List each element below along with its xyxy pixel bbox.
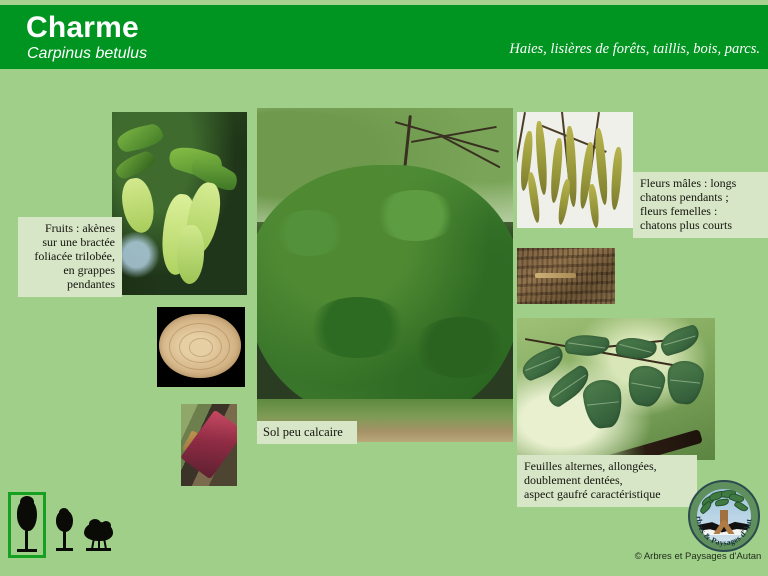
- photo-whole-tree: [257, 108, 513, 442]
- leaf-vein: [620, 344, 653, 353]
- foliage-tuft: [308, 297, 408, 358]
- tree-base: [17, 549, 37, 552]
- caption-line: Fleurs mâles : longs: [640, 177, 761, 191]
- shrub-crown-top: [89, 519, 101, 529]
- photo-wood-cross-section: [157, 307, 245, 387]
- shrub-base: [86, 548, 111, 551]
- habitat-text: Haies, lisières de forêts, taillis, bois…: [509, 42, 760, 57]
- form-icon-small-tree[interactable]: [51, 510, 79, 558]
- tree-form-icons: [8, 492, 113, 564]
- tree-trunk: [63, 529, 66, 549]
- caption-line: chatons pendants ;: [640, 191, 761, 205]
- photo-male-catkins: [517, 112, 633, 228]
- caption-flowers: Fleurs mâles : longs chatons pendants ; …: [633, 172, 768, 238]
- photo-bark-detail-knife: [181, 404, 237, 486]
- caption-soil: Sol peu calcaire: [257, 421, 357, 444]
- caption-line: chatons plus courts: [640, 219, 761, 233]
- caption-line: Feuilles alternes, allongées,: [524, 460, 690, 474]
- tree-base: [56, 548, 73, 551]
- foliage-tuft: [413, 317, 507, 378]
- bark-scar: [535, 273, 576, 278]
- shrub-crown-top: [101, 521, 111, 530]
- page-title: Charme: [26, 13, 139, 43]
- logo-ring-text: Arbres & Paysages d'Autan: [690, 482, 758, 550]
- caption-line: en grappes: [25, 264, 115, 278]
- growth-ring: [189, 338, 214, 357]
- caption-fruits: Fruits : akènes sur une bractée foliacée…: [18, 217, 122, 297]
- tree-trunk: [25, 526, 28, 551]
- leaf-vein: [663, 336, 695, 346]
- caption-leaves: Feuilles alternes, allongées, doublement…: [517, 455, 697, 507]
- photo-fruits-catkins: [112, 112, 247, 295]
- organisation-logo: Arbres & Paysages d'Autan: [688, 480, 760, 552]
- tree-canopy: [257, 165, 513, 419]
- form-icon-shrub[interactable]: [83, 522, 115, 558]
- photo-bark-texture: [517, 248, 615, 304]
- caption-line: foliacée trilobée,: [25, 250, 115, 264]
- leaf-vein: [568, 343, 604, 349]
- caption-line: pendantes: [25, 278, 115, 292]
- form-icon-tall-tree[interactable]: [8, 492, 46, 558]
- leaf-vein: [526, 356, 560, 371]
- foliage-tuft: [374, 190, 457, 241]
- tree-crown-top: [20, 496, 34, 508]
- photo-leaves: [517, 318, 715, 460]
- copyright-text: © Arbres et Paysages d'Autan: [628, 551, 768, 562]
- leaf-vein: [631, 383, 661, 389]
- caption-line: fleurs femelles :: [640, 205, 761, 219]
- logo-outer-ring: Arbres & Paysages d'Autan: [688, 480, 760, 552]
- caption-line: Fruits : akènes: [25, 222, 115, 236]
- caption-line: doublement dentées,: [524, 474, 690, 488]
- foliage-tuft: [274, 210, 346, 256]
- leaf-vein: [670, 379, 700, 383]
- logo-ring-text-label: Arbres & Paysages d'Autan: [690, 482, 753, 547]
- scientific-name: Carpinus betulus: [27, 46, 147, 62]
- caption-line: aspect gaufré caractéristique: [524, 488, 690, 502]
- wood-disc: [159, 314, 241, 378]
- leaf-vein: [587, 402, 619, 406]
- tree-crown-top: [59, 508, 69, 517]
- caption-line: sur une bractée: [25, 236, 115, 250]
